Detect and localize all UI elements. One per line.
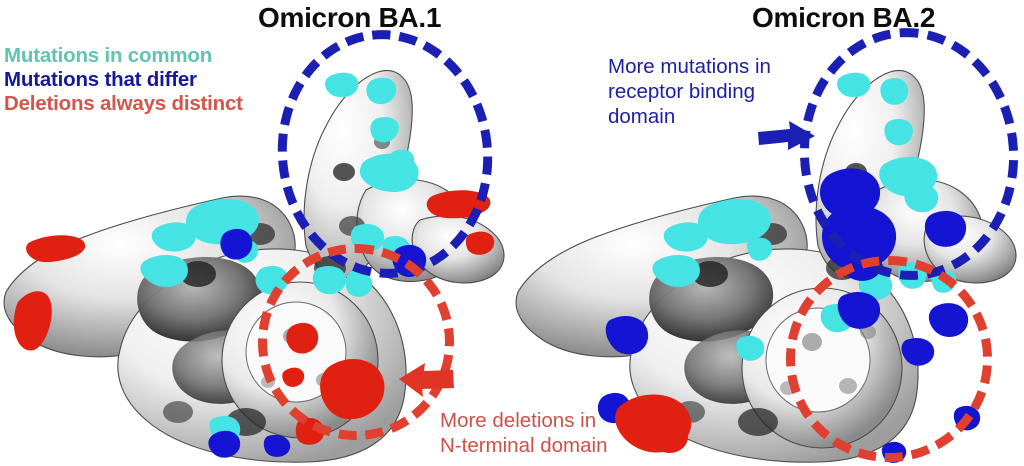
- arrow-left-red-icon: [398, 358, 456, 403]
- legend-item-mutations-in-common: Mutations in common: [4, 44, 243, 68]
- annotation-rbd-line1: More mutations in: [608, 54, 771, 79]
- legend-item-mutations-that-differ: Mutations that differ: [4, 68, 243, 92]
- annotation-rbd-line2: receptor binding: [608, 79, 771, 104]
- ntd-highlight-ring-ba2: [786, 256, 992, 462]
- arrow-right-blue-icon: [756, 120, 818, 161]
- panel-title-ba1: Omicron BA.1: [258, 2, 441, 34]
- annotation-ntd: More deletions in N-terminal domain: [440, 408, 607, 458]
- annotation-rbd-line3: domain: [608, 104, 771, 129]
- ntd-highlight-ring-ba1: [258, 244, 454, 440]
- deletion-patch: [615, 395, 691, 453]
- legend-item-deletions-always-distinct: Deletions always distinct: [4, 92, 243, 116]
- panel-title-ba2: Omicron BA.2: [752, 2, 935, 34]
- annotation-ntd-line1: More deletions in: [440, 408, 607, 433]
- annotation-rbd: More mutations in receptor binding domai…: [608, 54, 771, 129]
- figure-root: Omicron BA.1 Omicron BA.2 Mutations in c…: [0, 0, 1024, 466]
- annotation-ntd-line2: N-terminal domain: [440, 433, 607, 458]
- legend: Mutations in common Mutations that diffe…: [4, 44, 243, 115]
